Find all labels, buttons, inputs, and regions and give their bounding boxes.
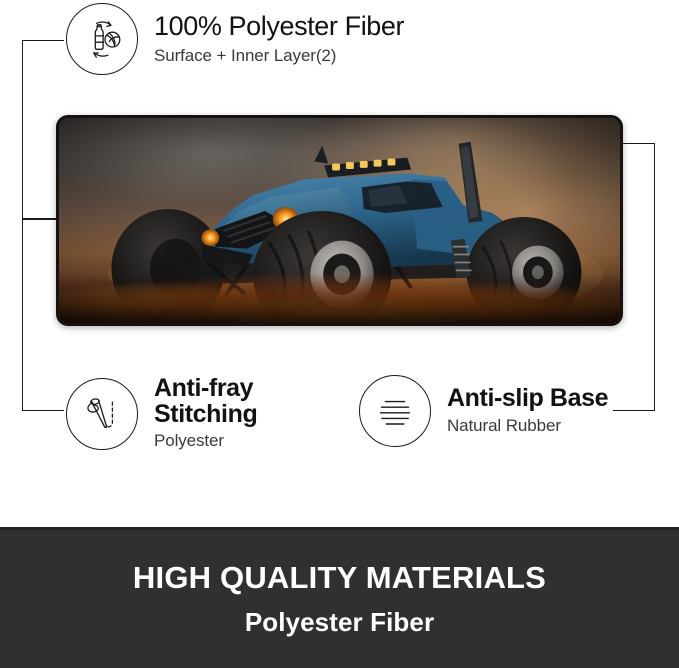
bracket-segment-bottom	[22, 410, 64, 411]
artwork-vignette	[59, 118, 620, 323]
feature-stitching-text: Anti-fray Stitching Polyester	[154, 375, 257, 452]
bracket-segment-bottom	[613, 410, 655, 411]
bracket-segment-vertical	[22, 218, 23, 411]
feature-antislip-subtitle: Natural Rubber	[447, 415, 608, 437]
feature-polyester-title: 100% Polyester Fiber	[154, 11, 404, 41]
feature-antislip-text: Anti-slip Base Natural Rubber	[447, 385, 608, 437]
banner-title: HIGH QUALITY MATERIALS	[133, 560, 546, 596]
feature-polyester-text: 100% Polyester Fiber Surface + Inner Lay…	[154, 11, 404, 67]
quality-banner: HIGH QUALITY MATERIALS Polyester Fiber	[0, 527, 679, 668]
feature-stitching-title: Anti-fray Stitching	[154, 375, 257, 427]
feature-stitching: Anti-fray Stitching Polyester	[66, 375, 257, 452]
needle-thread-icon	[66, 378, 138, 450]
feature-polyester-subtitle: Surface + Inner Layer(2)	[154, 45, 404, 67]
feature-stitching-subtitle: Polyester	[154, 430, 257, 452]
banner-subtitle: Polyester Fiber	[245, 606, 434, 638]
mousepad-artwork	[59, 118, 620, 323]
feature-antislip: Anti-slip Base Natural Rubber	[359, 375, 608, 447]
bracket-segment-vertical	[22, 40, 23, 220]
rubber-lines-icon	[359, 375, 431, 447]
feature-polyester: 100% Polyester Fiber Surface + Inner Lay…	[66, 3, 404, 75]
bracket-segment-vertical	[654, 143, 655, 411]
recycled-bottle-yarn-icon	[66, 3, 138, 75]
product-image-mousepad	[56, 115, 623, 326]
infographic-page: 100% Polyester Fiber Surface + Inner Lay…	[0, 0, 679, 668]
feature-antislip-title: Anti-slip Base	[447, 385, 608, 412]
bracket-segment-top	[22, 40, 64, 41]
